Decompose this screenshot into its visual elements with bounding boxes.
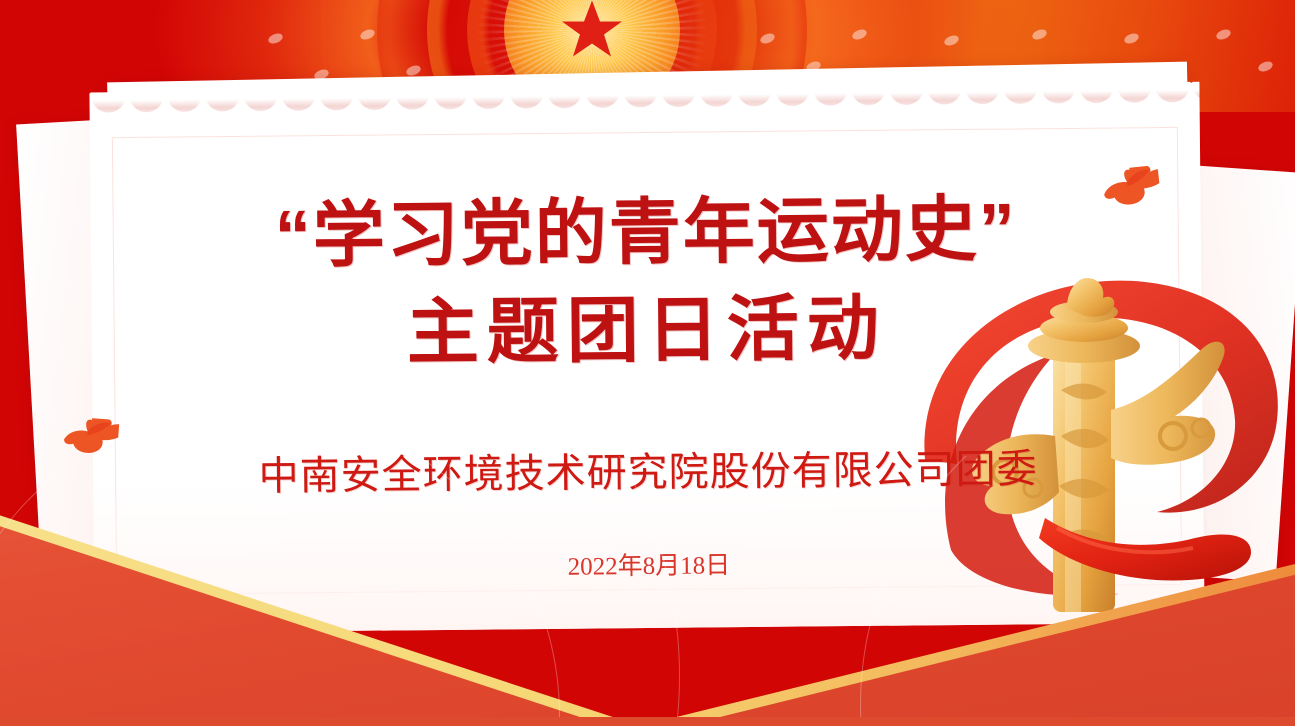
dove-icon bbox=[1096, 165, 1162, 217]
red-star-icon bbox=[561, 0, 623, 64]
huabiao-column-icon bbox=[905, 250, 1295, 650]
presentation-title-slide: “学习党的青年运动史” 主题团日活动 中南安全环境技术研究院股份有限公司团委 2… bbox=[0, 0, 1295, 726]
dove-icon bbox=[57, 416, 120, 464]
bottom-strip bbox=[0, 717, 1295, 726]
